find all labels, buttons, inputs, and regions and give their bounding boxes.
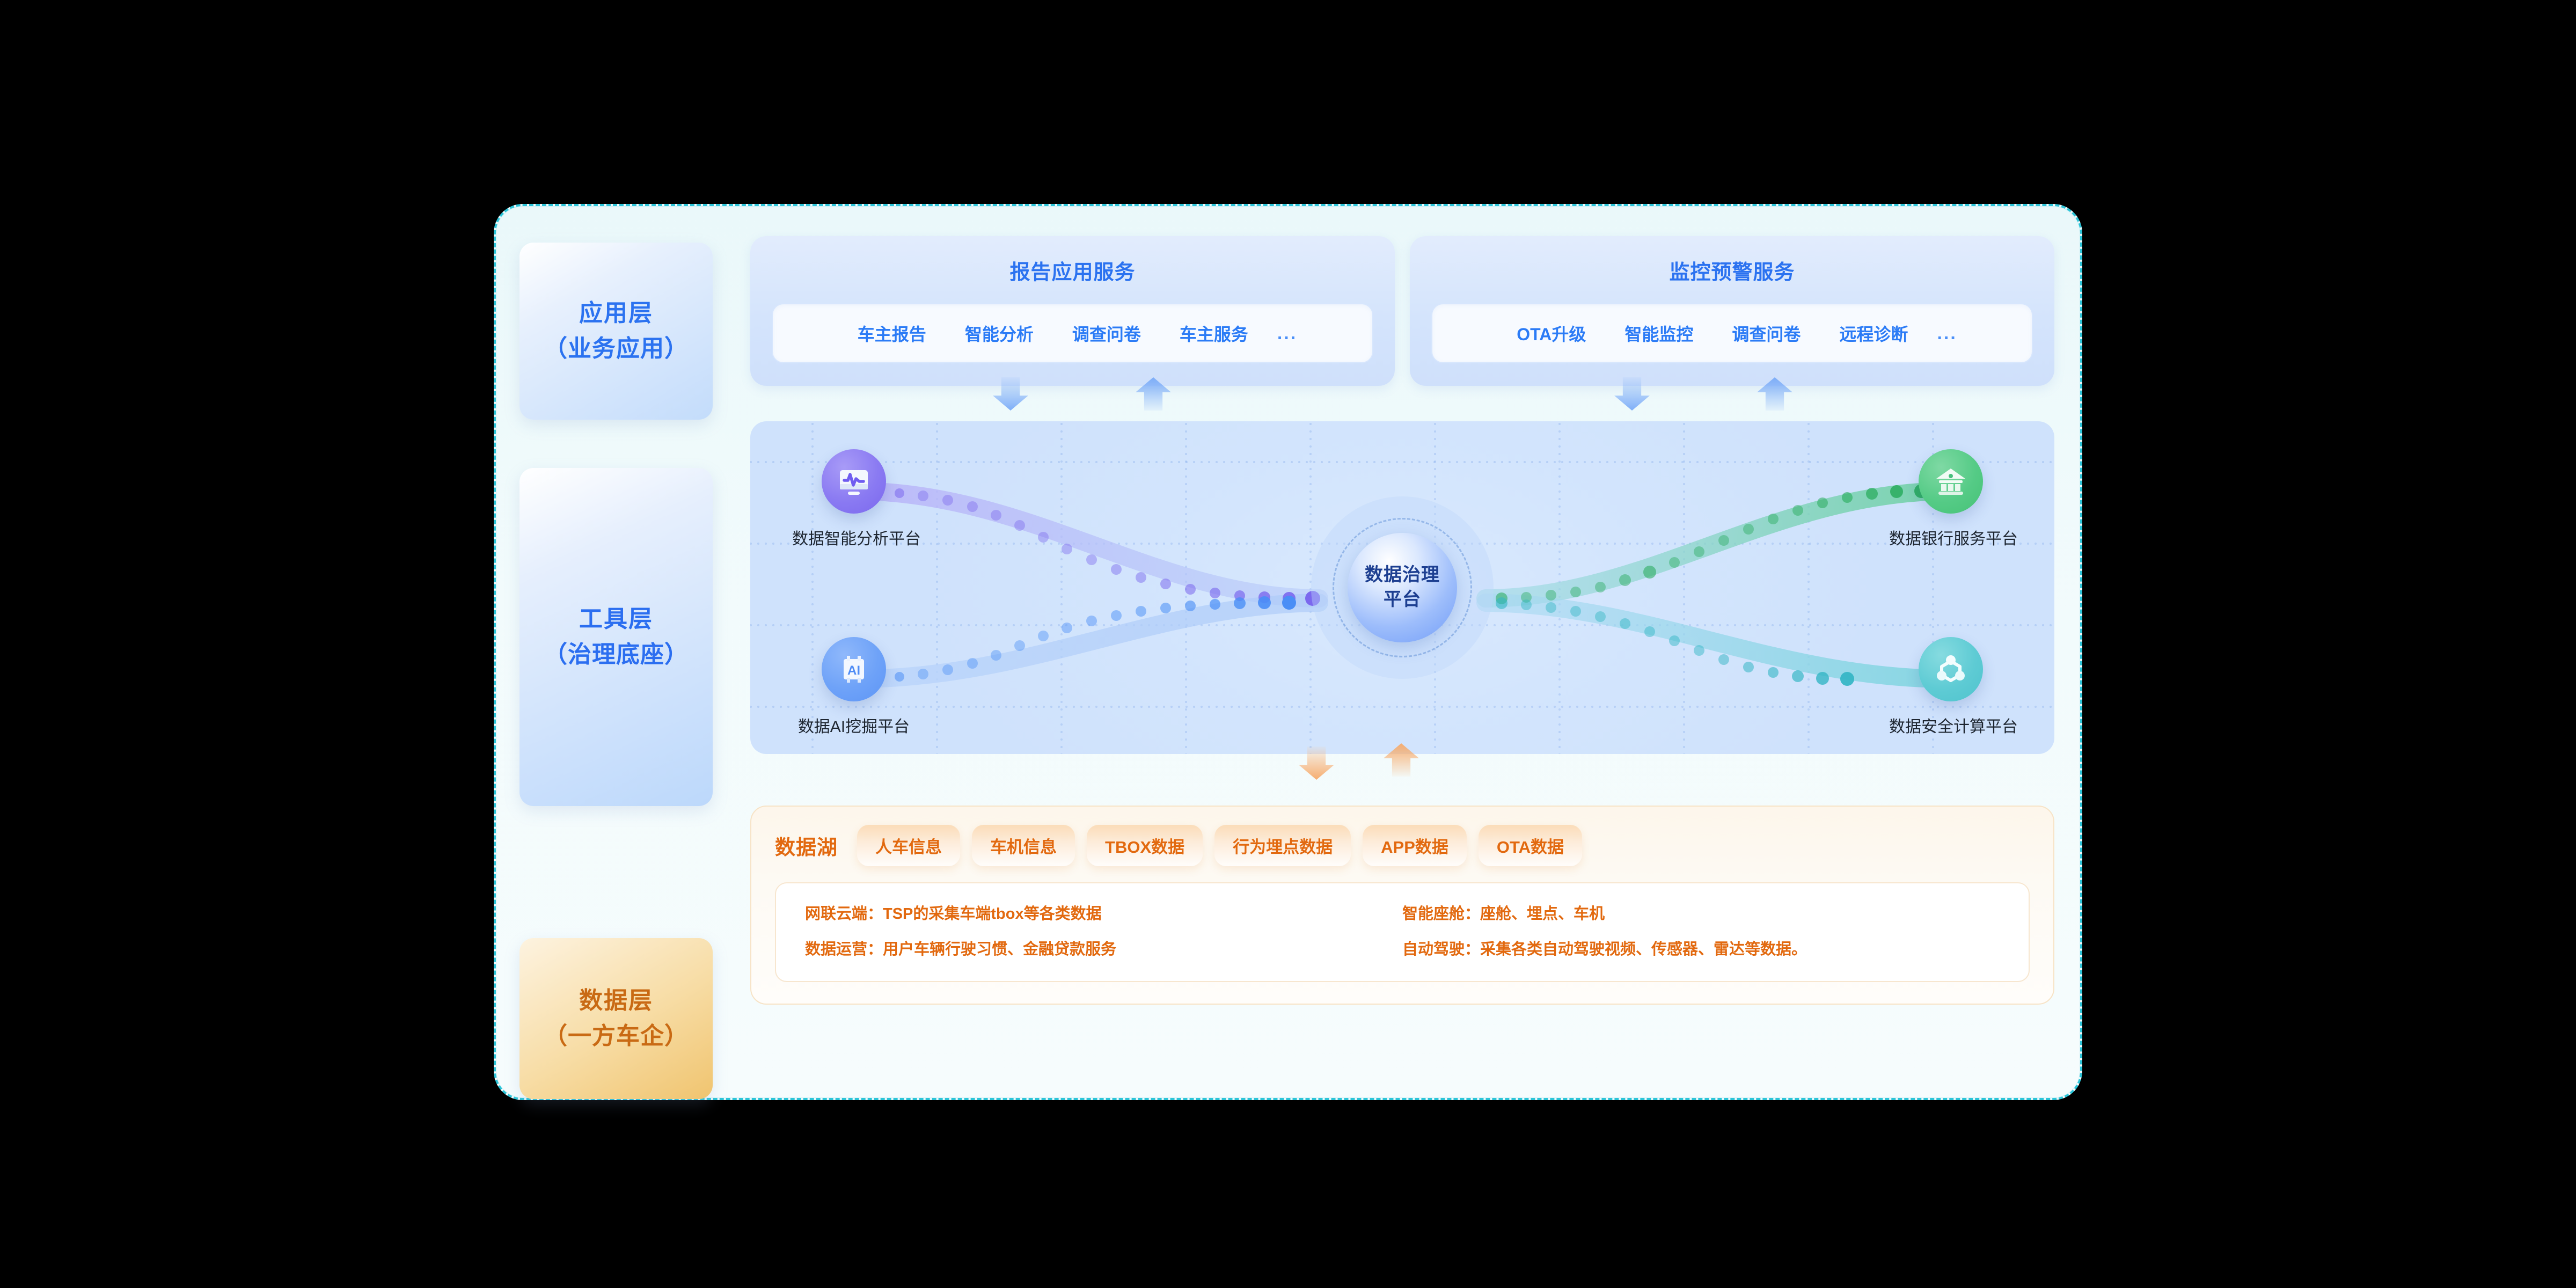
bank-building-icon <box>1932 463 1970 500</box>
service-card-report[interactable]: 报告应用服务 车主报告 智能分析 调查问卷 车主服务 ... <box>750 236 1395 386</box>
data-lake-pill[interactable]: OTA数据 <box>1479 825 1582 866</box>
data-lake-card: 数据湖 人车信息 车机信息 TBOX数据 行为埋点数据 APP数据 OTA数据 … <box>750 806 2054 1005</box>
app-tool-connector-band <box>750 386 2054 421</box>
arrow-up-icon <box>1384 743 1419 777</box>
application-services-row: 报告应用服务 车主报告 智能分析 调查问卷 车主服务 ... 监控预警服务 OT… <box>750 236 2054 386</box>
data-lake-pill[interactable]: 人车信息 <box>857 825 960 866</box>
service-tag[interactable]: 智能分析 <box>946 321 1053 346</box>
description-line: 自动驾驶：采集各类自动驾驶视频、传感器、雷达等数据。 <box>1402 941 2000 958</box>
data-lake-pill-row: 数据湖 人车信息 车机信息 TBOX数据 行为埋点数据 APP数据 OTA数据 <box>775 825 2030 866</box>
layer-card-tool[interactable]: 工具层 （治理底座） <box>519 468 713 806</box>
node-bubble <box>822 449 886 514</box>
layer-name: 工具层 <box>579 602 653 637</box>
node-secure-computing[interactable]: 数据安全计算平台 <box>1889 637 2012 737</box>
main-column: 报告应用服务 车主报告 智能分析 调查问卷 车主服务 ... 监控预警服务 OT… <box>750 236 2054 1005</box>
tool-data-connector-band <box>750 754 2054 789</box>
tool-layer-canvas: 数据智能分析平台 AI 数据AI挖掘平台 <box>750 421 2054 754</box>
arrow-down-icon <box>1614 377 1650 411</box>
arrow-down-icon <box>1299 747 1334 780</box>
node-label: 数据银行服务平台 <box>1889 525 2012 549</box>
service-tag[interactable]: 车主服务 <box>1160 321 1268 346</box>
layer-name: 数据层 <box>579 983 653 1019</box>
node-network-icon <box>1932 650 1970 688</box>
data-lake-description-panel: 网联云端：TSP的采集车端tbox等各类数据 数据运营：用户车辆行驶习惯、金融贷… <box>775 882 2030 982</box>
node-bubble <box>1919 637 1983 701</box>
description-line: 数据运营：用户车辆行驶习惯、金融贷款服务 <box>805 941 1402 958</box>
service-title: 监控预警服务 <box>1431 255 2033 285</box>
central-hub[interactable]: 数据治理 平台 <box>1311 496 1494 679</box>
service-tag-list: OTA升级 智能监控 调查问卷 远程诊断 ... <box>1431 303 2033 363</box>
service-card-monitor[interactable]: 监控预警服务 OTA升级 智能监控 调查问卷 远程诊断 ... <box>1410 236 2054 386</box>
diagram-canvas: 应用层 （业务应用） 工具层 （治理底座） 数据层 （一方车企） 报告应用服务 … <box>0 0 2576 1288</box>
node-data-analysis[interactable]: 数据智能分析平台 <box>792 449 916 549</box>
layer-subtitle: （一方车企） <box>544 1019 689 1054</box>
service-tag-more[interactable]: ... <box>1927 323 1966 344</box>
hub-core: 数据治理 平台 <box>1348 533 1457 642</box>
data-lake-pill[interactable]: APP数据 <box>1363 825 1467 866</box>
description-line: 网联云端：TSP的采集车端tbox等各类数据 <box>805 906 1402 923</box>
node-label: 数据AI挖掘平台 <box>792 713 916 737</box>
monitor-pulse-icon <box>835 463 873 500</box>
layer-card-application[interactable]: 应用层 （业务应用） <box>519 243 713 420</box>
data-lake-title: 数据湖 <box>775 831 838 860</box>
node-ai-mining[interactable]: AI 数据AI挖掘平台 <box>792 637 916 737</box>
node-bubble <box>1919 449 1983 514</box>
service-tag-list: 车主报告 智能分析 调查问卷 车主服务 ... <box>772 303 1373 363</box>
ai-chip-icon: AI <box>835 650 873 688</box>
arrow-up-icon <box>1757 377 1792 411</box>
node-label: 数据智能分析平台 <box>792 525 916 549</box>
data-lake-pill[interactable]: TBOX数据 <box>1087 825 1203 866</box>
layer-rail: 应用层 （业务应用） 工具层 （治理底座） 数据层 （一方车企） <box>519 243 713 1069</box>
hub-title-line2: 平台 <box>1384 588 1421 612</box>
arrow-down-icon <box>993 377 1028 411</box>
service-tag[interactable]: 调查问卷 <box>1713 321 1820 346</box>
service-tag[interactable]: 车主报告 <box>838 321 946 346</box>
node-label: 数据安全计算平台 <box>1889 713 2012 737</box>
service-title: 报告应用服务 <box>772 255 1373 285</box>
layer-name: 应用层 <box>579 296 653 331</box>
description-column-right: 智能座舱：座舱、埋点、车机 自动驾驶：采集各类自动驾驶视频、传感器、雷达等数据。 <box>1402 906 2000 958</box>
layer-subtitle: （治理底座） <box>544 637 689 672</box>
service-tag[interactable]: 智能监控 <box>1605 321 1713 346</box>
service-tag[interactable]: OTA升级 <box>1497 321 1605 346</box>
description-line: 智能座舱：座舱、埋点、车机 <box>1402 906 2000 923</box>
description-column-left: 网联云端：TSP的采集车端tbox等各类数据 数据运营：用户车辆行驶习惯、金融贷… <box>805 906 1402 958</box>
hub-title-line1: 数据治理 <box>1365 563 1440 588</box>
data-lake-pill[interactable]: 车机信息 <box>972 825 1075 866</box>
layer-subtitle: （业务应用） <box>544 331 689 367</box>
layer-card-data[interactable]: 数据层 （一方车企） <box>519 938 713 1099</box>
svg-text:AI: AI <box>847 663 860 678</box>
service-tag-more[interactable]: ... <box>1268 323 1307 344</box>
arrow-up-icon <box>1136 377 1171 411</box>
service-tag[interactable]: 远程诊断 <box>1820 321 1927 346</box>
service-tag[interactable]: 调查问卷 <box>1053 321 1160 346</box>
node-bubble: AI <box>822 637 886 701</box>
node-data-bank[interactable]: 数据银行服务平台 <box>1889 449 2012 549</box>
data-lake-pill[interactable]: 行为埋点数据 <box>1214 825 1351 866</box>
